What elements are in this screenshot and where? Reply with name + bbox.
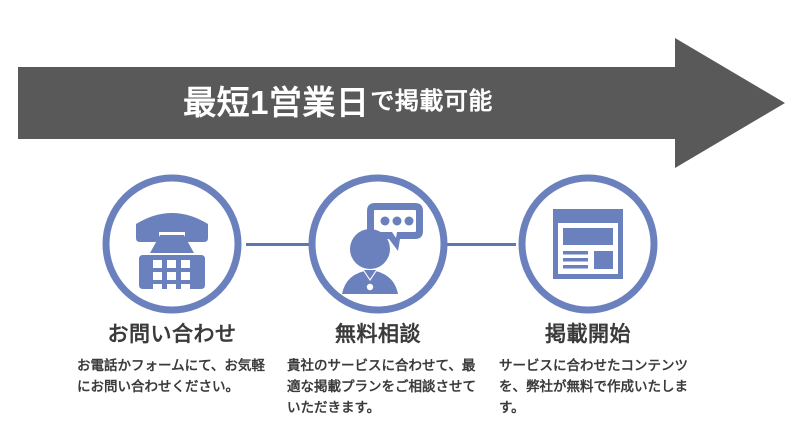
step-contact: お問い合わせ お電話かフォームにて、お気軽にお問い合わせください。 [67,173,277,398]
process-infographic: 最短1営業日 で掲載可能 [0,0,800,440]
banner-title-main: 最短1営業日 [183,86,369,119]
webpage-layout-icon [517,173,659,315]
step-free-consultation-title: 無料相談 [273,322,483,347]
step-free-consultation-circle [307,173,449,315]
banner-title: 最短1営業日 で掲載可能 [18,67,658,137]
step-publication-start-description: サービスに合わせたコンテンツを、弊社が無料で作成いたします。 [499,356,695,419]
telephone-icon [101,173,243,315]
step-contact-title: お問い合わせ [67,322,277,347]
step-publication-start-circle [517,173,659,315]
arrow-banner: 最短1営業日 で掲載可能 [18,38,785,168]
step-publication-start-title: 掲載開始 [483,322,693,347]
step-contact-circle [101,173,243,315]
step-contact-description: お電話かフォームにて、お気軽にお問い合わせください。 [77,356,273,398]
step-free-consultation: 無料相談 貴社のサービスに合わせて、最適な掲載プランをご相談させていただきます。 [273,173,483,419]
person-speech-bubble-icon [307,173,449,315]
step-publication-start: 掲載開始 サービスに合わせたコンテンツを、弊社が無料で作成いたします。 [483,173,693,419]
banner-title-sub: で掲載可能 [369,90,493,114]
step-free-consultation-description: 貴社のサービスに合わせて、最適な掲載プランをご相談させていただきます。 [287,356,483,419]
